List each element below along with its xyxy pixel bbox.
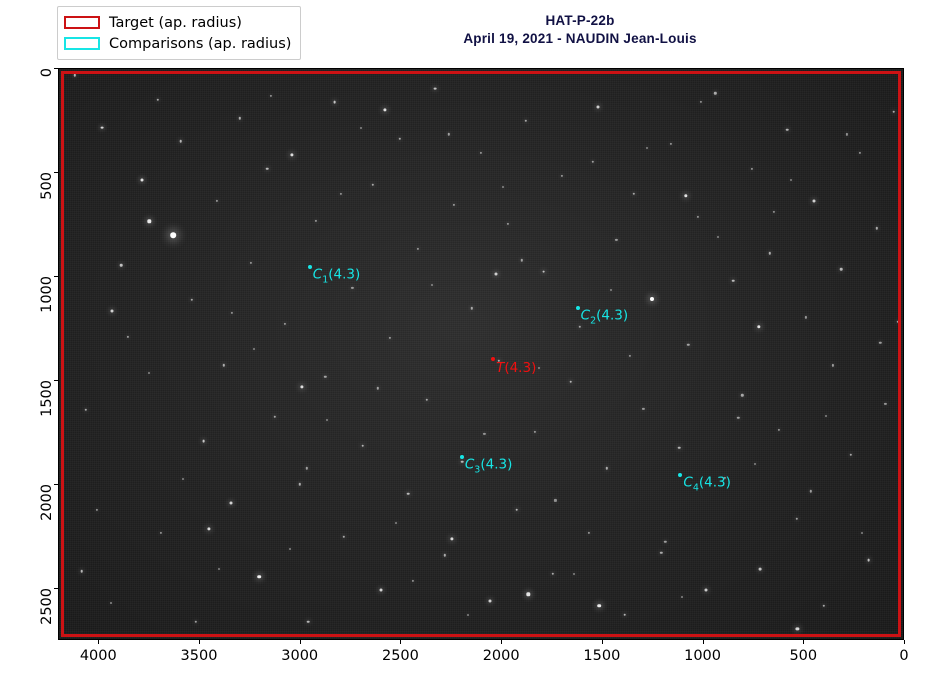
x-tick	[703, 640, 704, 644]
x-tick-label: 1000	[684, 648, 721, 664]
x-tick-label: 500	[789, 648, 817, 664]
x-tick	[98, 640, 99, 644]
legend-label-target: Target (ap. radius)	[109, 15, 242, 31]
plot-area: C1(4.3)C2(4.3)T(4.3)C3(4.3)C4(4.3) 40003…	[58, 68, 904, 640]
x-tick-label: 2500	[382, 648, 419, 664]
x-tick-label: 0	[899, 648, 908, 664]
x-tick	[904, 640, 905, 644]
y-tick-label: 1500	[39, 380, 55, 417]
legend-item-comparisons: Comparisons (ap. radius)	[64, 33, 291, 54]
x-tick	[300, 640, 301, 644]
page-title: HAT-P-22b	[355, 12, 805, 30]
x-tick-label: 3000	[281, 648, 318, 664]
x-tick-label: 4000	[80, 648, 117, 664]
x-tick	[199, 640, 200, 644]
y-tick-label: 0	[39, 68, 55, 77]
x-tick-label: 1500	[583, 648, 620, 664]
page-subtitle: April 19, 2021 - NAUDIN Jean-Louis	[355, 30, 805, 48]
y-tick-label: 2000	[39, 484, 55, 521]
y-tick-label: 2500	[39, 588, 55, 625]
x-tick-label: 2000	[483, 648, 520, 664]
rectangle-outline-icon-target	[64, 16, 100, 29]
x-tick	[803, 640, 804, 644]
legend: Target (ap. radius) Comparisons (ap. rad…	[57, 6, 301, 60]
legend-item-target: Target (ap. radius)	[64, 12, 291, 33]
x-tick	[602, 640, 603, 644]
x-tick	[400, 640, 401, 644]
x-tick-label: 3500	[181, 648, 218, 664]
title-block: HAT-P-22b April 19, 2021 - NAUDIN Jean-L…	[355, 12, 805, 48]
figure-canvas: HAT-P-22b April 19, 2021 - NAUDIN Jean-L…	[0, 0, 941, 681]
y-tick-label: 500	[39, 172, 55, 200]
axes-spine	[58, 68, 904, 640]
legend-label-comparisons: Comparisons (ap. radius)	[109, 36, 291, 52]
y-tick-label: 1000	[39, 276, 55, 313]
rectangle-outline-icon-comparisons	[64, 37, 100, 50]
x-tick	[501, 640, 502, 644]
